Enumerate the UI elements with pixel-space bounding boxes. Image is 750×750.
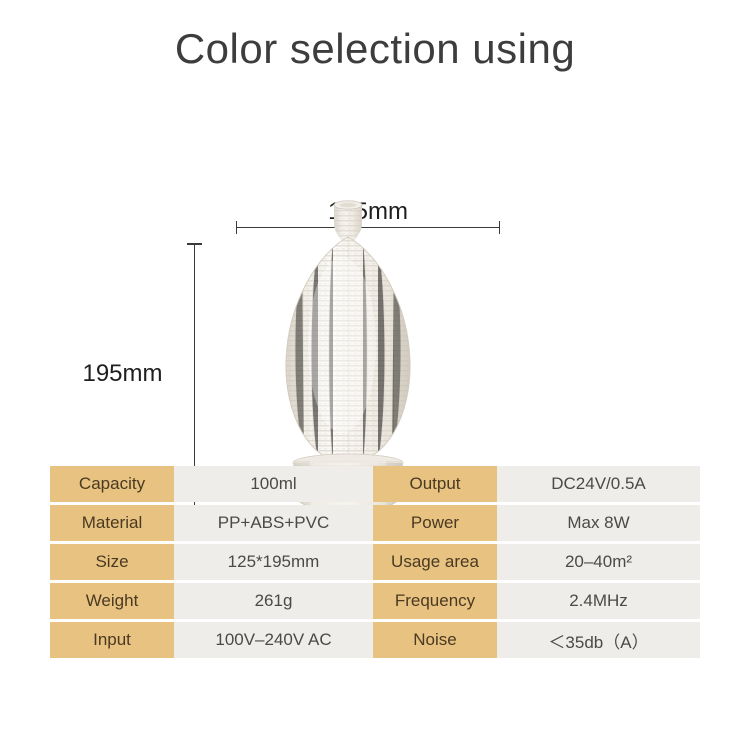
spec-value-weight: 261g: [174, 583, 373, 619]
spec-value-material: PP+ABS+PVC: [174, 505, 373, 541]
spec-value-noise: ＜35db（A）: [497, 622, 700, 658]
spec-label-noise: Noise: [373, 622, 497, 658]
table-row: Weight 261g Frequency 2.4MHz: [50, 583, 700, 619]
spec-label-frequency: Frequency: [373, 583, 497, 619]
table-row: Input 100V–240V AC Noise ＜35db（A）: [50, 622, 700, 658]
spec-value-usage-area: 20–40m²: [497, 544, 700, 580]
spec-label-material: Material: [50, 505, 174, 541]
spec-value-power: Max 8W: [497, 505, 700, 541]
spec-label-input: Input: [50, 622, 174, 658]
height-dimension-label: 195mm: [60, 360, 185, 388]
specification-table: Capacity 100ml Output DC24V/0.5A Materia…: [50, 466, 700, 658]
spec-value-frequency: 2.4MHz: [497, 583, 700, 619]
page-title: Color selection using: [0, 26, 750, 72]
width-dimension-cap-right: [499, 221, 500, 234]
product-dimension-stage: 125mm 195mm: [0, 95, 750, 450]
spec-label-weight: Weight: [50, 583, 174, 619]
spec-label-output: Output: [373, 466, 497, 502]
table-row: Capacity 100ml Output DC24V/0.5A: [50, 466, 700, 502]
table-row: Size 125*195mm Usage area 20–40m²: [50, 544, 700, 580]
spec-value-size: 125*195mm: [174, 544, 373, 580]
spec-value-capacity: 100ml: [174, 466, 373, 502]
spec-label-capacity: Capacity: [50, 466, 174, 502]
spec-value-output: DC24V/0.5A: [497, 466, 700, 502]
table-row: Material PP+ABS+PVC Power Max 8W: [50, 505, 700, 541]
height-dimension-cap-top: [187, 243, 202, 245]
width-dimension-cap-left: [236, 221, 237, 234]
spec-label-size: Size: [50, 544, 174, 580]
spec-value-input: 100V–240V AC: [174, 622, 373, 658]
spec-label-usage-area: Usage area: [373, 544, 497, 580]
spec-label-power: Power: [373, 505, 497, 541]
